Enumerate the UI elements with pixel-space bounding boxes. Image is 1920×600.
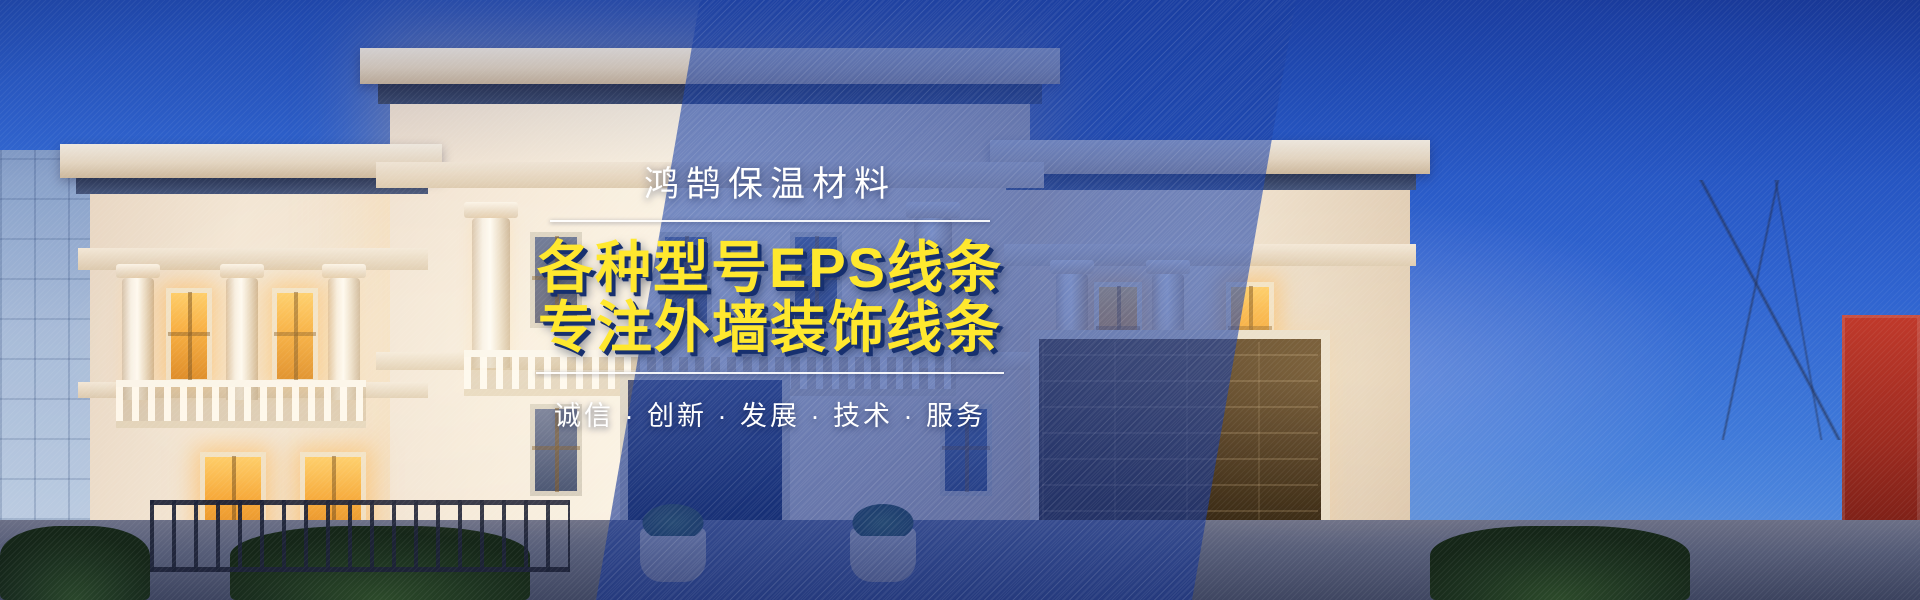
headline-line-1: 各种型号EPS线条 — [537, 238, 1003, 298]
headline-group: 各种型号EPS线条 专注外墙装饰线条 — [537, 238, 1003, 358]
tagline: 诚信 · 创新 · 发展 · 技术 · 服务 — [554, 394, 986, 433]
copy-inner: 鸿鹄保温材料 各种型号EPS线条 专注外墙装饰线条 诚信 · 创新 · 发展 ·… — [536, 167, 1004, 433]
headline-line-2: 专注外墙装饰线条 — [538, 298, 1002, 358]
divider-top — [550, 220, 990, 222]
divider-bottom — [536, 372, 1004, 374]
brand-name: 鸿鹄保温材料 — [644, 167, 896, 202]
promo-banner: 鸿鹄保温材料 各种型号EPS线条 专注外墙装饰线条 诚信 · 创新 · 发展 ·… — [0, 0, 1920, 600]
